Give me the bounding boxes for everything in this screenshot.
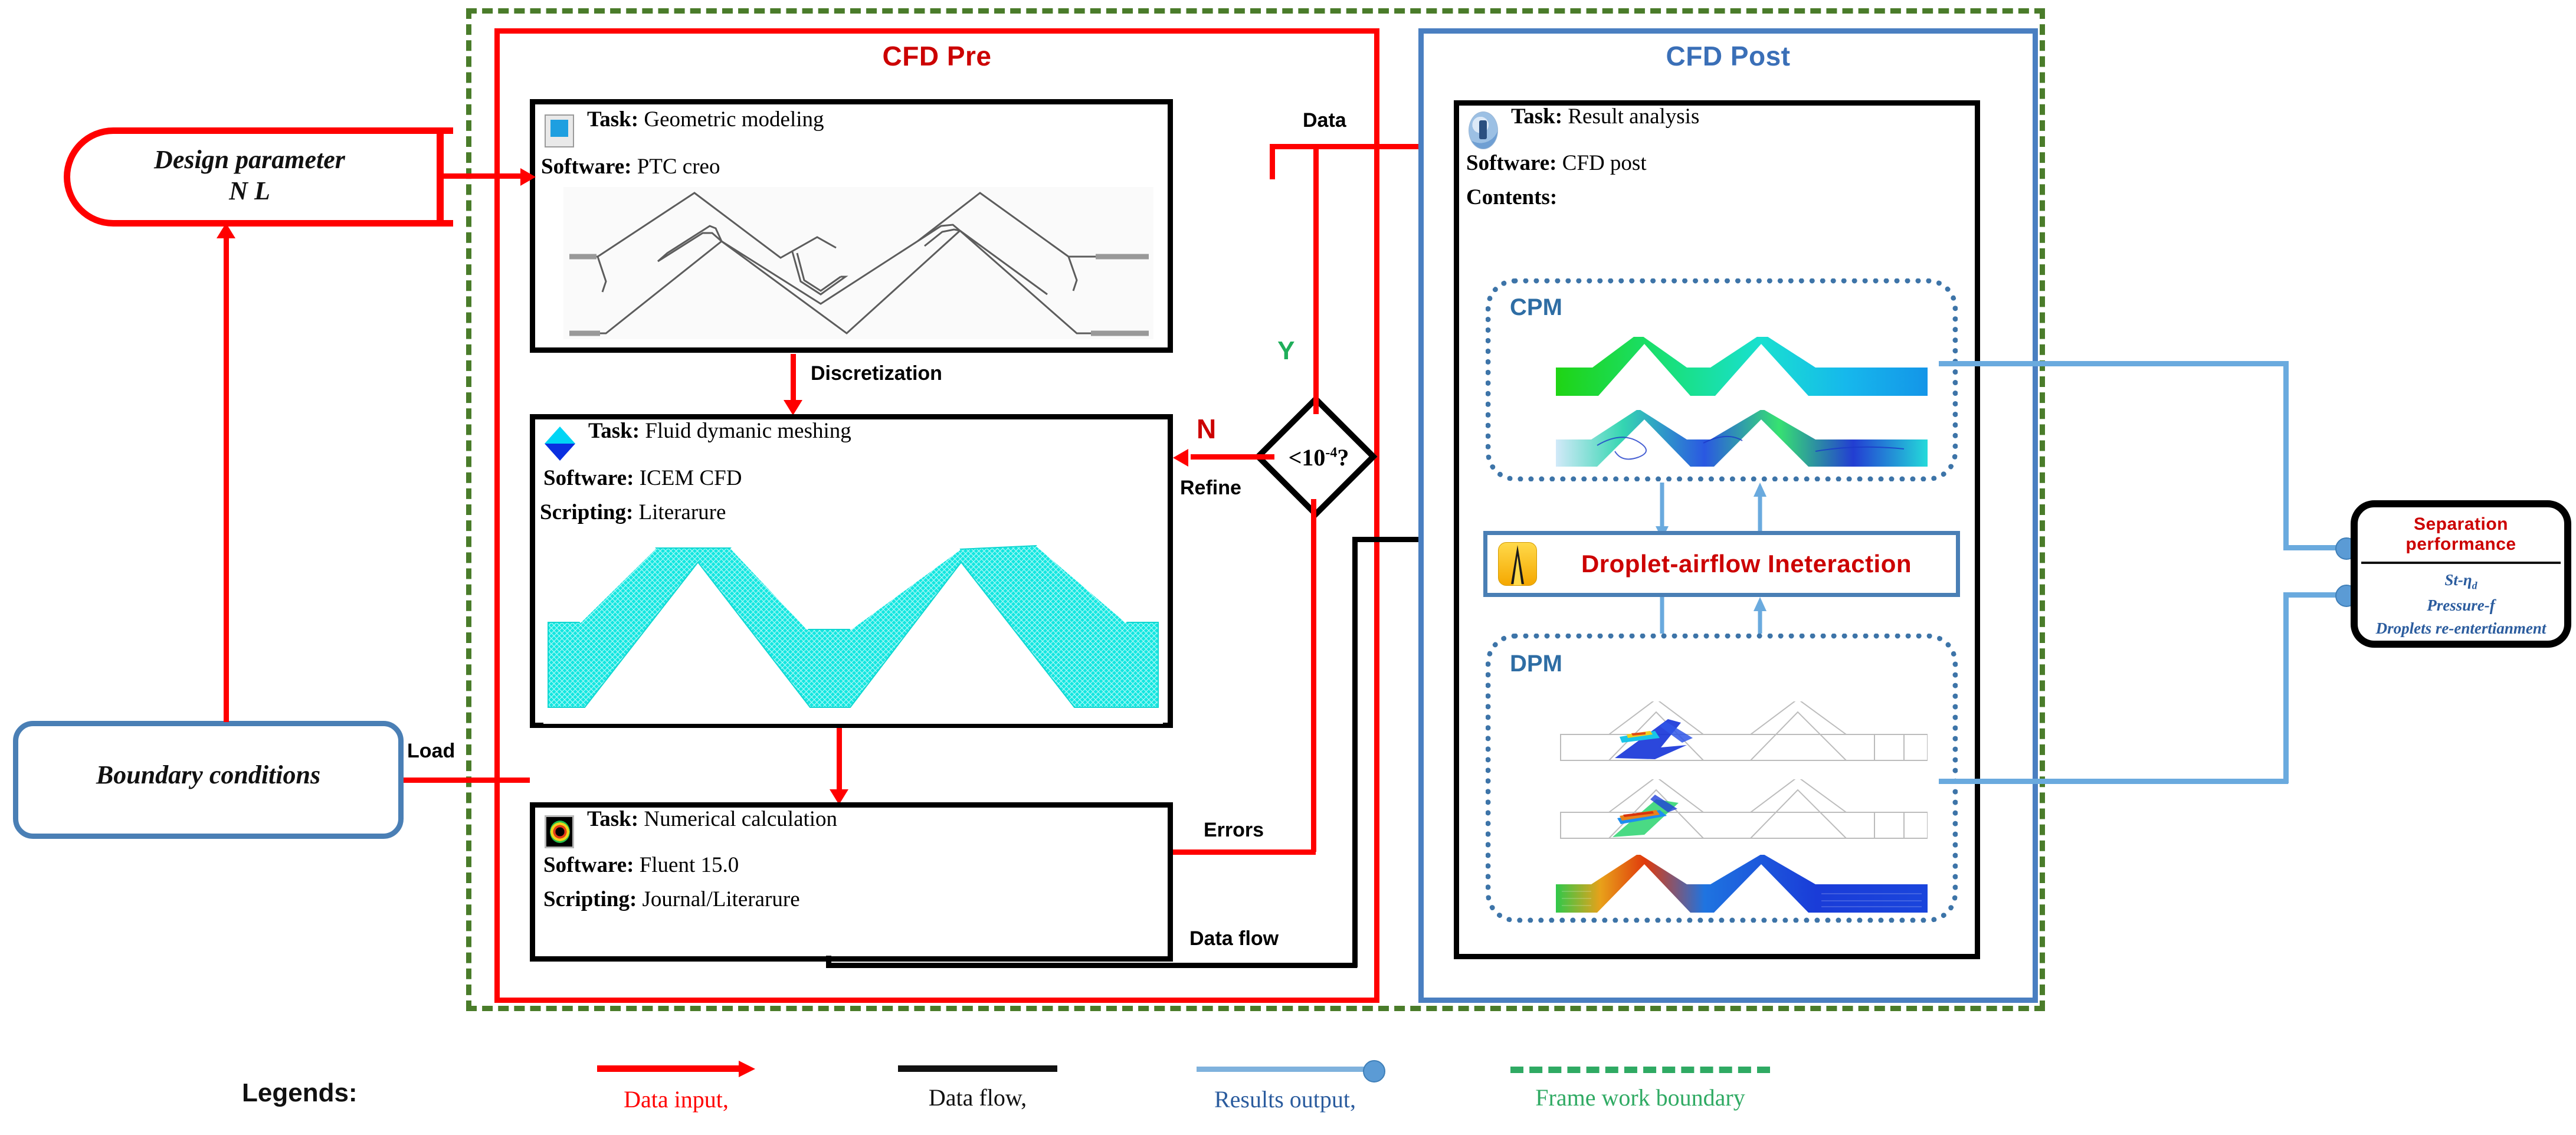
dpm-panel: DPM [1486, 634, 1958, 923]
data-flow-label: Data flow [1189, 927, 1279, 950]
results-output-line-cpm-horizontal [1939, 361, 2288, 366]
no-branch-arrow-head [1173, 449, 1188, 467]
ptc-creo-icon [545, 114, 574, 147]
icem-cfd-icon [545, 427, 575, 461]
load-label: Load [407, 740, 455, 763]
separation-item-1: Pressure-f [2358, 596, 2564, 615]
task-box-fluid-dynamic-meshing: Task: Fluid dymanic meshing Software: IC… [530, 414, 1173, 728]
no-label: N [1197, 413, 1232, 445]
yes-label: Y [1269, 336, 1304, 366]
design-parameter-line2: N L [64, 176, 435, 206]
discretization-arrow-line [791, 354, 796, 402]
task-label-post: Task: [1511, 104, 1562, 129]
no-branch-line [1191, 454, 1274, 460]
discretization-arrow-head [784, 400, 802, 415]
results-output-line-dpm-connect [2283, 592, 2342, 598]
contents-label-post: Contents: [1466, 185, 1557, 209]
mesh-to-calc-line [837, 728, 842, 793]
errors-line-vertical [1311, 499, 1316, 852]
software-value-post: CFD post [1562, 151, 1647, 175]
task-box-geometric-modeling: Task: Geometric modeling Software: PTC c… [530, 99, 1173, 353]
dpm-track-image-3 [1556, 855, 1928, 917]
task-value-2: Fluid dymanic meshing [645, 419, 851, 443]
cpm-contour-image-1 [1556, 337, 1928, 402]
task-value-post: Result analysis [1568, 104, 1699, 129]
boundary-conditions-label: Boundary conditions [13, 760, 404, 790]
results-output-line-dpm-vertical [2283, 596, 2289, 783]
software-label-post: Software: [1466, 151, 1556, 175]
cpm-contour-image-2 [1556, 410, 1928, 471]
legend-label-data-input: Data input, [597, 1085, 755, 1113]
geometry-preview-image [563, 187, 1153, 339]
dpm-track-image-1 [1556, 701, 1928, 766]
separation-performance-title: Separation performance [2358, 514, 2564, 555]
errors-label: Errors [1204, 819, 1264, 842]
legend-label-data-flow: Data flow, [898, 1084, 1057, 1111]
legend-label-framework-boundary: Frame work boundary [1510, 1084, 1770, 1111]
hazard-icon [1498, 542, 1537, 586]
separation-item-2: Droplets re-entertianment [2358, 619, 2564, 638]
results-output-line-cpm-connect [2283, 545, 2342, 550]
cfd-pre-title: CFD Pre [494, 40, 1379, 72]
errors-line-horizontal [1173, 849, 1316, 855]
task-label-2: Task: [588, 419, 640, 443]
refine-label: Refine [1180, 477, 1241, 500]
boundary-to-design-line [224, 236, 229, 722]
droplet-airflow-interaction-box: Droplet-airflow Ineteraction [1483, 531, 1960, 597]
software-value-1: PTC creo [637, 155, 720, 179]
data-line-vertical-stub [1270, 144, 1275, 179]
design-to-cfdpre-line [444, 173, 524, 179]
cfd-post-title: CFD Post [1418, 40, 2038, 72]
software-label-1: Software: [541, 155, 631, 179]
fluent-icon [545, 815, 574, 848]
legend-item-data-flow: Data flow, [898, 1061, 1069, 1111]
task-value-1: Geometric modeling [644, 107, 824, 132]
diagram-canvas: CFD Pre Task: Geometric modeling Softwar… [0, 0, 2576, 1135]
design-parameter-right-edge [437, 133, 444, 222]
data-flow-line-vertical [1352, 537, 1358, 967]
yes-branch-line [1313, 144, 1319, 414]
data-label: Data [1303, 109, 1346, 132]
mesh-preview-image [543, 535, 1163, 724]
design-parameter-line1: Design parameter [64, 145, 435, 175]
legend-item-results-output: Results output, [1197, 1061, 1391, 1113]
task-value-3: Numerical calculation [644, 807, 837, 831]
convergence-condition-text: <10-4? [1274, 444, 1363, 471]
legend-item-framework-boundary: Frame work boundary [1510, 1061, 1782, 1111]
separation-item-0: St-ηd [2358, 571, 2564, 592]
software-label-2: Software: [543, 466, 634, 490]
convergence-exponent: -4 [1325, 445, 1337, 461]
cfd-post-icon [1469, 111, 1498, 149]
cpm-panel: CPM [1486, 278, 1958, 481]
software-label-3: Software: [543, 853, 634, 877]
scripting-label-2: Scripting: [540, 500, 633, 524]
cpm-label: CPM [1510, 294, 1562, 321]
scripting-value-3: Journal/Literarure [643, 887, 800, 911]
boundary-to-design-arrow-head [217, 223, 235, 238]
task-label-3: Task: [587, 807, 638, 831]
results-output-line-dpm-horizontal [1939, 779, 2288, 784]
scripting-label-3: Scripting: [543, 887, 637, 911]
results-output-line-cpm-vertical [2283, 361, 2289, 550]
software-value-3: Fluent 15.0 [640, 853, 739, 877]
data-flow-line-left-stub [826, 956, 831, 967]
task-label-1: Task: [587, 107, 638, 132]
discretization-label: Discretization [811, 362, 942, 385]
load-line [404, 778, 530, 783]
legend-title: Legends: [242, 1078, 358, 1108]
dpm-label: DPM [1510, 651, 1562, 677]
legend-label-results-output: Results output, [1197, 1085, 1374, 1113]
task-box-numerical-calculation: Task: Numerical calculation Software: Fl… [530, 802, 1173, 962]
software-value-2: ICEM CFD [640, 466, 742, 490]
dpm-track-image-2 [1556, 779, 1928, 844]
legend-item-data-input: Data input, [597, 1061, 768, 1113]
data-flow-line-bottom [826, 963, 1357, 968]
design-to-cfdpre-arrow-head [520, 168, 536, 186]
separation-performance-box: Separation performance St-ηd Pressure-f … [2351, 500, 2571, 648]
scripting-value-2: Literarure [639, 500, 726, 524]
droplet-airflow-interaction-label: Droplet-airflow Ineteraction [1537, 550, 1956, 578]
